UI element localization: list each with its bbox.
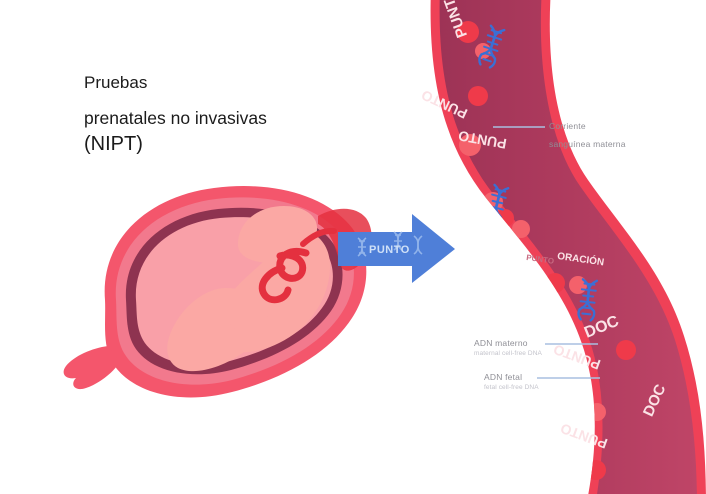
callout-adn-fetal-sub: fetal cell-free DNA (484, 384, 539, 391)
callout-adn-fetal: ADN fetal fetal cell-free DNA (484, 372, 539, 391)
title-line-3: (NIPT) (84, 134, 384, 155)
callout-adn-fetal-label: ADN fetal (484, 372, 522, 382)
title-line-2: prenatales no invasivas (84, 109, 384, 127)
callout-corriente-line2: sanguínea materna (549, 139, 626, 149)
callout-adn-materno-sub: maternal cell-free DNA (474, 350, 542, 357)
callout-corriente-line1: Corriente (549, 121, 586, 131)
title-block: Pruebas prenatales no invasivas (NIPT) (84, 74, 384, 155)
title-line-1: Pruebas (84, 74, 384, 92)
callout-adn-materno-label: ADN materno (474, 338, 528, 348)
callout-adn-materno: ADN materno maternal cell-free DNA (474, 338, 542, 357)
callout-corriente-sanguinea: Corriente sanguínea materna (549, 121, 626, 149)
illustration-canvas: PUNTO Pruebas prenatales no invasivas (N… (0, 0, 706, 494)
